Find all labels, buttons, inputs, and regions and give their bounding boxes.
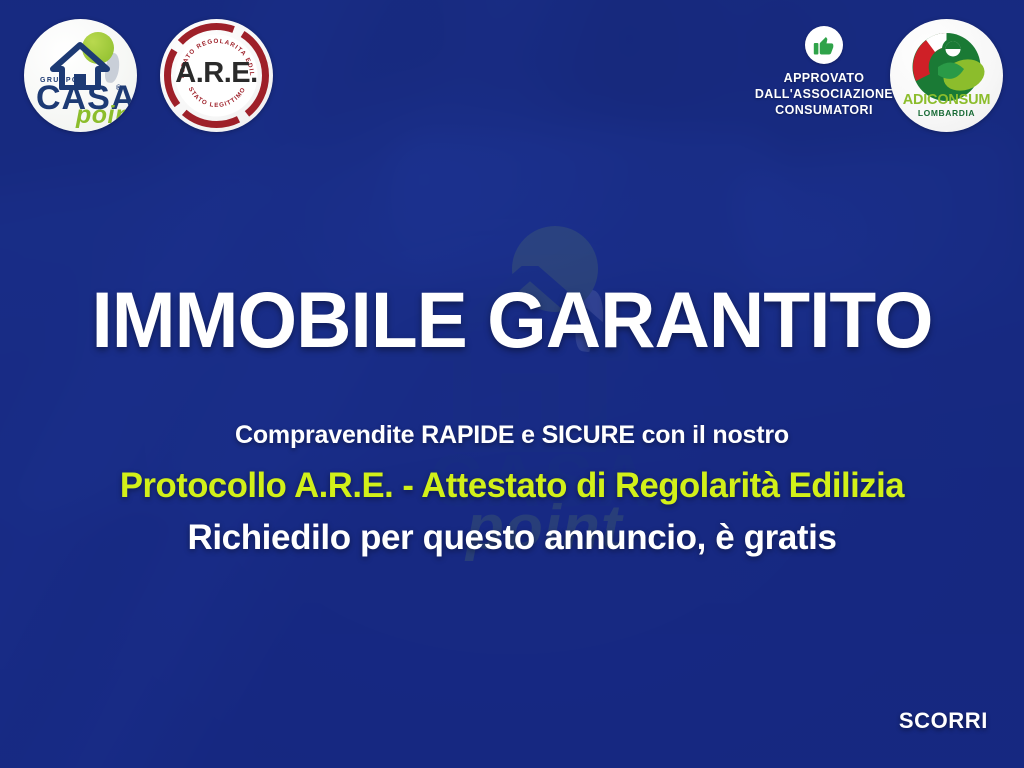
thumbs-up-icon: [812, 33, 836, 57]
approvato-line-2: DALL'ASSOCIAZIONE: [748, 86, 900, 102]
scroll-hint[interactable]: SCORRI: [899, 708, 988, 734]
subtitle-line-1: Compravendite RAPIDE e SICURE con il nos…: [0, 421, 1024, 450]
logo-adiconsum[interactable]: ADICONSUM LOMBARDIA: [890, 19, 1003, 132]
logo-are[interactable]: ATTESTATO REGOLARITA EDILIZIA STATO LEGI…: [160, 19, 273, 132]
approvato-line-1: APPROVATO: [748, 70, 900, 86]
page-title: IMMOBILE GARANTITO: [15, 280, 1008, 359]
casapoint-point-text: point: [76, 103, 137, 128]
approvato-block: APPROVATO DALL'ASSOCIAZIONE CONSUMATORI: [748, 26, 900, 118]
thumbs-up-badge: [805, 26, 843, 64]
adiconsum-name: ADICONSUM: [890, 92, 1003, 108]
are-label: A.R.E.: [160, 57, 273, 90]
approvato-line-3: CONSUMATORI: [748, 102, 900, 118]
logo-casapoint[interactable]: GRUPPO CASA ® point: [24, 19, 137, 132]
subtitle-line-3: Richiedilo per questo annuncio, è gratis: [0, 518, 1024, 558]
registered-mark: ®: [116, 85, 121, 92]
adiconsum-subtitle: LOMBARDIA: [890, 108, 1003, 118]
subtitle-line-2: Protocollo A.R.E. - Attestato di Regolar…: [5, 466, 1019, 506]
promo-banner: CASA point GRUPPO CASA ® point ATTESTATO…: [0, 0, 1024, 768]
